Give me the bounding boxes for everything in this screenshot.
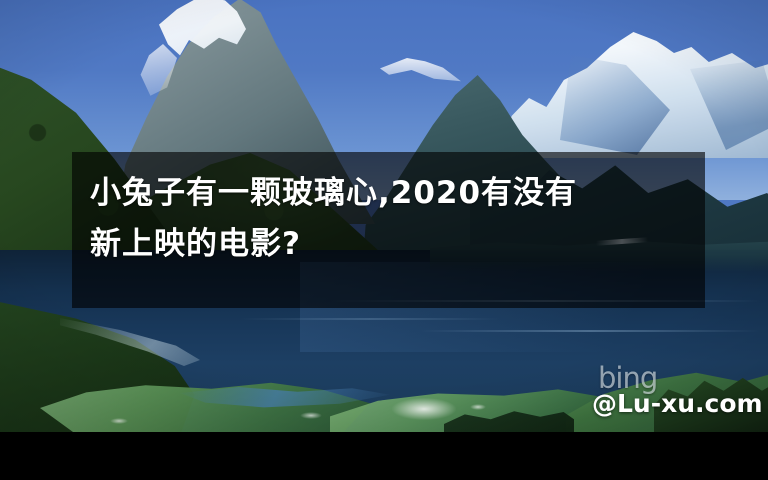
water-specular	[110, 418, 128, 424]
water-specular	[470, 404, 486, 410]
page-title: 小兔子有一颗玻璃心,2020有没有 新上映的电影?	[90, 168, 710, 270]
shoal-highlight	[392, 398, 456, 420]
water-ripple-line	[240, 318, 500, 320]
letterbox-bottom-bar	[0, 432, 768, 480]
site-watermark: @Lu-xu.com	[592, 390, 763, 418]
water-ripple-line	[420, 330, 760, 332]
screenshot-stage: 小兔子有一颗玻璃心,2020有没有 新上映的电影? bing @Lu-xu.co…	[0, 0, 768, 480]
water-specular	[300, 412, 322, 419]
